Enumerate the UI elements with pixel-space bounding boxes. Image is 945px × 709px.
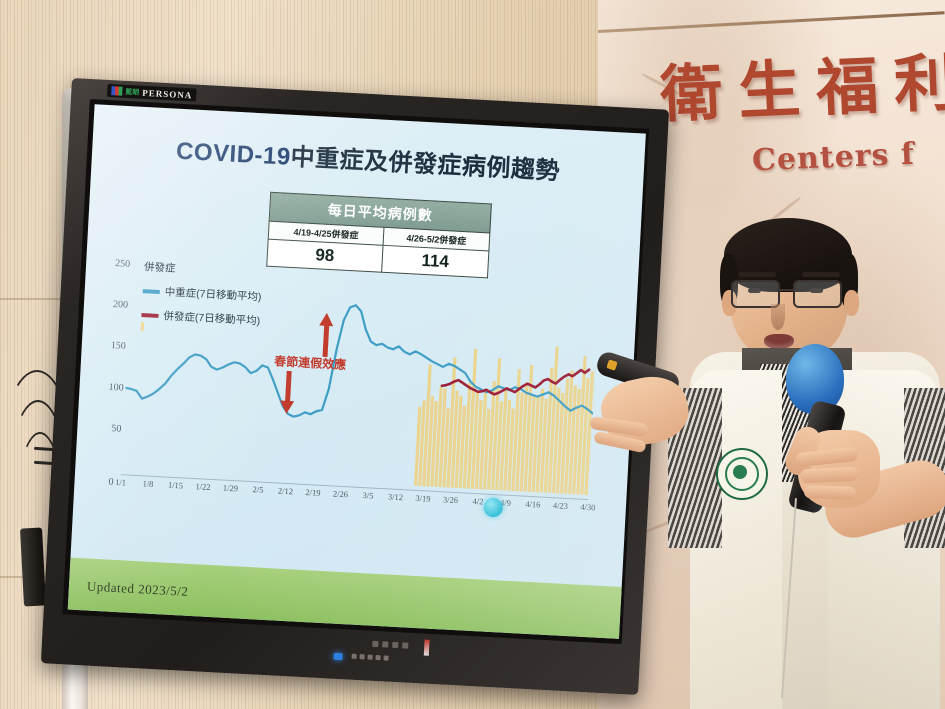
- agency-emblem-icon: [716, 448, 768, 500]
- y-axis-tick-label: 250: [115, 258, 131, 270]
- port-icon[interactable]: [375, 655, 380, 660]
- display-button[interactable]: [402, 642, 408, 648]
- chart-plot-area: [121, 264, 599, 495]
- press-briefing-photo: 衛生福利 Centers f 藍眼 PERSONA COVID-19中重症及併發…: [0, 0, 945, 709]
- eyebrow: [738, 272, 776, 277]
- brand-name-chinese: 藍眼: [125, 86, 140, 97]
- nose: [771, 304, 785, 330]
- chart-line-severe: [125, 293, 598, 432]
- port-icon[interactable]: [351, 654, 356, 659]
- wall-bracket: [20, 527, 46, 606]
- x-axis-tick-label: 1/1: [115, 477, 126, 488]
- x-axis-tick-label: 1/8: [142, 478, 153, 489]
- port-icon[interactable]: [383, 655, 388, 660]
- x-axis-tick-label: 2/26: [333, 488, 349, 499]
- x-axis-tick-label: 3/12: [388, 491, 404, 502]
- brand-logo-icon: [111, 86, 122, 96]
- daily-average-table: 每日平均病例數 4/19-4/25併發症 4/26-5/2併發症 98 114: [266, 192, 492, 279]
- y-axis-tick-label: 150: [111, 340, 127, 352]
- x-axis-tick-label: 1/15: [168, 480, 184, 491]
- display-button[interactable]: [392, 642, 398, 648]
- display-button[interactable]: [372, 641, 378, 647]
- x-axis-tick-label: 2/5: [252, 484, 263, 495]
- x-axis-tick-label: 4/30: [580, 502, 596, 513]
- trend-chart: 50100150200250 併發症中重症(7日移動平均)併發症(7日移動平均)…: [80, 263, 629, 591]
- x-axis-tick-label: 3/5: [362, 490, 373, 501]
- x-axis-tick-label: 4/16: [525, 499, 541, 510]
- chart-svg: [121, 264, 599, 495]
- remote-button[interactable]: [606, 359, 617, 370]
- y-axis-tick-label: 200: [113, 299, 129, 311]
- port-icon[interactable]: [367, 655, 372, 660]
- x-axis-tick-label: 2/19: [305, 487, 321, 498]
- slide-title-cjk: 中重症及併發症病例趨勢: [290, 144, 561, 185]
- mouth: [764, 334, 794, 349]
- x-axis-tick-label: 1/29: [223, 483, 239, 494]
- x-axis-tick-label: 4/23: [553, 500, 569, 511]
- x-axis-tick-label: 4/2: [472, 496, 483, 507]
- table-value: 114: [381, 245, 488, 278]
- port-icon[interactable]: [359, 654, 364, 659]
- y-axis-zero-label: 0: [108, 477, 114, 488]
- x-axis-tick-label: 3/19: [415, 493, 431, 504]
- x-axis-tick-label: 2/12: [278, 486, 294, 497]
- display-logo-strip: [424, 640, 430, 656]
- eyebrow: [802, 272, 840, 277]
- interactive-display[interactable]: 藍眼 PERSONA COVID-19中重症及併發症病例趨勢 每日平均病例數 4…: [40, 78, 671, 709]
- finger: [804, 485, 856, 500]
- slide-title: COVID-19中重症及併發症病例趨勢: [92, 126, 645, 190]
- presenter: [668, 212, 945, 709]
- slide-title-en: COVID-19: [175, 138, 291, 171]
- cursor-highlight-icon: [483, 498, 503, 518]
- display-button[interactable]: [382, 641, 388, 647]
- brand-name: PERSONA: [142, 87, 192, 100]
- y-axis-tick-label: 100: [108, 381, 124, 393]
- x-axis-tick-label: 3/26: [443, 494, 459, 505]
- x-axis-tick-label: 1/22: [195, 481, 211, 492]
- venue-sign-chinese: 衛生福利: [658, 32, 945, 134]
- power-led-icon: [333, 653, 342, 660]
- table-value: 98: [267, 239, 383, 272]
- presentation-slide[interactable]: COVID-19中重症及併發症病例趨勢 每日平均病例數 4/19-4/25併發症…: [68, 104, 646, 639]
- eyeglasses: [731, 280, 849, 304]
- y-axis-tick-label: 50: [111, 423, 122, 435]
